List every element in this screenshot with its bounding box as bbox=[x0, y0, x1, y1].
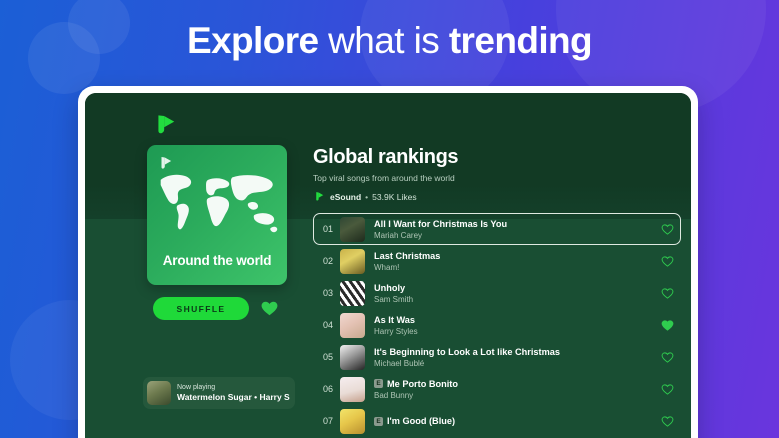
track-row[interactable]: 05It's Beginning to Look a Lot like Chri… bbox=[313, 341, 681, 373]
track-title-text: Last Christmas bbox=[374, 250, 440, 262]
track-thumbnail bbox=[340, 377, 365, 402]
track-title-text: Unholy bbox=[374, 282, 405, 294]
now-playing-art bbox=[147, 381, 171, 405]
track-rank: 03 bbox=[318, 288, 338, 298]
app-screen: Around the world SHUFFLE Now bbox=[85, 93, 691, 438]
track-title: EMe Porto Bonito bbox=[374, 378, 653, 390]
esound-note-logo-icon bbox=[313, 190, 326, 203]
playlist-owner: eSound bbox=[330, 192, 361, 202]
track-artist: Mariah Carey bbox=[374, 230, 653, 241]
playlist-meta: eSound • 53.9K Likes bbox=[313, 190, 681, 203]
heart-outline-icon[interactable] bbox=[661, 351, 674, 364]
track-title-text: As It Was bbox=[374, 314, 415, 326]
rankings-panel: Global rankings Top viral songs from aro… bbox=[313, 145, 681, 437]
headline-middle: what is bbox=[319, 20, 449, 61]
track-artist: Harry Styles bbox=[374, 326, 653, 337]
track-meta: All I Want for Christmas Is YouMariah Ca… bbox=[374, 218, 653, 241]
playlist-sidebar: Around the world SHUFFLE Now bbox=[147, 145, 287, 285]
playlist-cover-title: Around the world bbox=[147, 253, 287, 269]
heart-filled-icon[interactable] bbox=[661, 319, 674, 332]
now-playing-track: Watermelon Sugar • Harry S bbox=[177, 392, 290, 403]
track-artist: Wham! bbox=[374, 262, 653, 273]
track-rank: 04 bbox=[318, 320, 338, 330]
playlist-cover-art[interactable]: Around the world bbox=[147, 145, 287, 285]
track-rank: 02 bbox=[318, 256, 338, 266]
headline-tail: trending bbox=[449, 20, 592, 61]
track-title: As It Was bbox=[374, 314, 653, 326]
track-list: 01All I Want for Christmas Is YouMariah … bbox=[313, 213, 681, 437]
track-thumbnail bbox=[340, 249, 365, 274]
heart-outline-icon[interactable] bbox=[661, 287, 674, 300]
page-title: Global rankings bbox=[313, 145, 681, 169]
track-thumbnail bbox=[340, 313, 365, 338]
track-row[interactable]: 04As It WasHarry Styles bbox=[313, 309, 681, 341]
track-title-text: All I Want for Christmas Is You bbox=[374, 218, 507, 230]
track-title: All I Want for Christmas Is You bbox=[374, 218, 653, 230]
heart-outline-icon[interactable] bbox=[661, 383, 674, 396]
track-artist: Sam Smith bbox=[374, 294, 653, 305]
track-row[interactable]: 07EI'm Good (Blue) bbox=[313, 405, 681, 437]
page-subtitle: Top viral songs from around the world bbox=[313, 172, 681, 185]
track-thumbnail bbox=[340, 409, 365, 434]
track-title-text: It's Beginning to Look a Lot like Christ… bbox=[374, 346, 560, 358]
track-artist: Bad Bunny bbox=[374, 390, 653, 401]
track-meta: EI'm Good (Blue) bbox=[374, 415, 653, 427]
track-artist: Michael Bublé bbox=[374, 358, 653, 369]
track-title: EI'm Good (Blue) bbox=[374, 415, 653, 427]
track-thumbnail bbox=[340, 345, 365, 370]
track-title: Last Christmas bbox=[374, 250, 653, 262]
esound-note-logo-icon[interactable] bbox=[153, 111, 179, 137]
track-meta: Last ChristmasWham! bbox=[374, 250, 653, 273]
track-thumbnail bbox=[340, 217, 365, 242]
track-meta: It's Beginning to Look a Lot like Christ… bbox=[374, 346, 653, 369]
track-row[interactable]: 03UnholySam Smith bbox=[313, 277, 681, 309]
heart-outline-icon[interactable] bbox=[661, 255, 674, 268]
heart-outline-icon[interactable] bbox=[661, 415, 674, 428]
playlist-likes: 53.9K Likes bbox=[372, 192, 416, 202]
explicit-badge: E bbox=[374, 417, 383, 426]
track-title-text: Me Porto Bonito bbox=[387, 378, 458, 390]
track-meta: UnholySam Smith bbox=[374, 282, 653, 305]
track-rank: 07 bbox=[318, 416, 338, 426]
track-meta: As It WasHarry Styles bbox=[374, 314, 653, 337]
now-playing-label: Now playing bbox=[177, 383, 290, 392]
explicit-badge: E bbox=[374, 379, 383, 388]
app-window: Around the world SHUFFLE Now bbox=[78, 86, 698, 438]
heart-filled-icon[interactable] bbox=[260, 299, 279, 318]
headline-lead: Explore bbox=[187, 20, 319, 61]
track-row[interactable]: 06EMe Porto BonitoBad Bunny bbox=[313, 373, 681, 405]
track-rank: 05 bbox=[318, 352, 338, 362]
track-rank: 01 bbox=[318, 224, 338, 234]
shuffle-button[interactable]: SHUFFLE bbox=[153, 297, 249, 320]
track-rank: 06 bbox=[318, 384, 338, 394]
now-playing-bar[interactable]: Now playing Watermelon Sugar • Harry S bbox=[143, 377, 295, 409]
track-meta: EMe Porto BonitoBad Bunny bbox=[374, 378, 653, 401]
playlist-actions: SHUFFLE bbox=[147, 297, 287, 321]
page-root: Explore what is trending bbox=[0, 0, 779, 438]
track-row[interactable]: 01All I Want for Christmas Is YouMariah … bbox=[313, 213, 681, 245]
page-headline: Explore what is trending bbox=[0, 18, 779, 64]
meta-separator: • bbox=[365, 192, 368, 202]
track-row[interactable]: 02Last ChristmasWham! bbox=[313, 245, 681, 277]
track-thumbnail bbox=[340, 281, 365, 306]
track-title: It's Beginning to Look a Lot like Christ… bbox=[374, 346, 653, 358]
heart-outline-icon[interactable] bbox=[661, 223, 674, 236]
track-title: Unholy bbox=[374, 282, 653, 294]
world-map-icon bbox=[153, 165, 281, 237]
track-title-text: I'm Good (Blue) bbox=[387, 415, 455, 427]
